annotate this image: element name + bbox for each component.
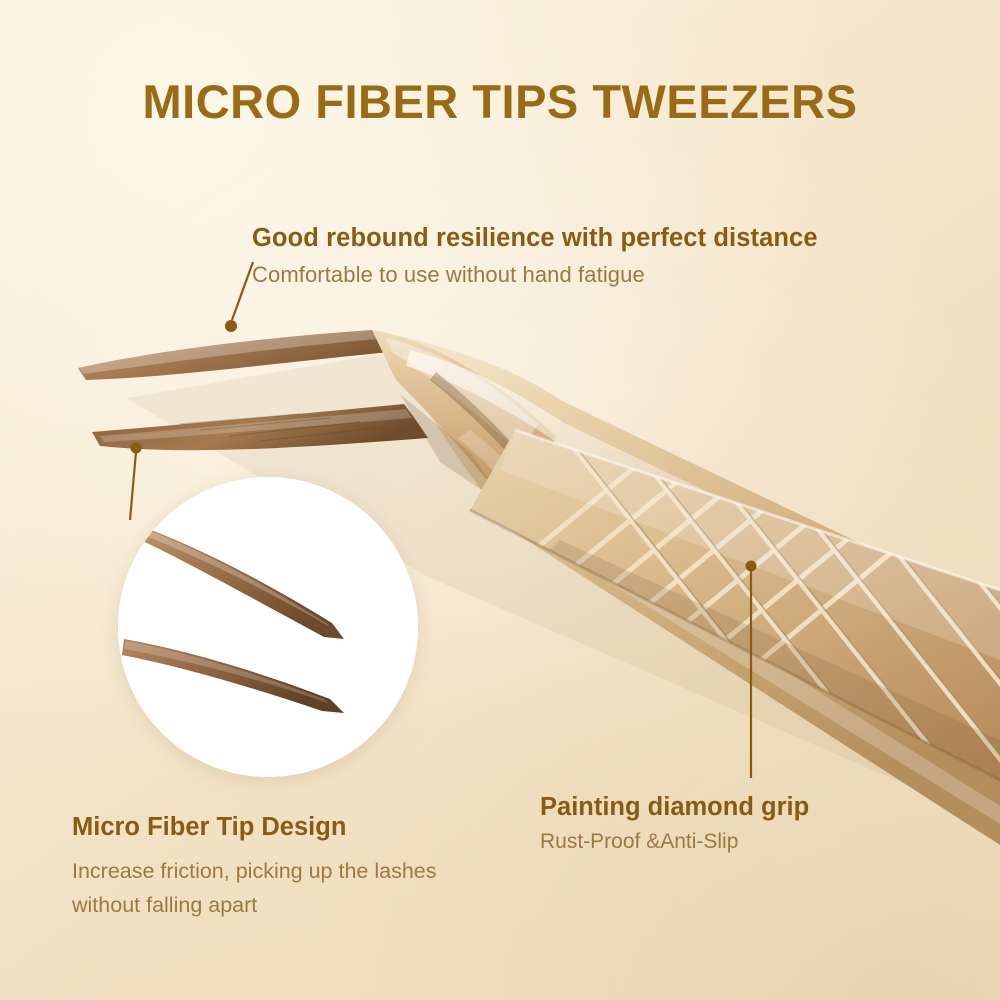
callout-rebound-sub: Comfortable to use without hand fatigue: [252, 262, 992, 288]
tweezer-tip-closeup: [118, 477, 418, 777]
leader-dot-rebound: [225, 320, 237, 332]
closeup-graphic: [118, 477, 418, 777]
leader-dot-grip: [746, 561, 757, 572]
leader-tip: [130, 452, 136, 520]
callout-rebound: Good rebound resilience with perfect dis…: [252, 224, 992, 288]
callout-grip-headline: Painting diamond grip: [540, 793, 960, 822]
callout-tip-sub: Increase friction, picking up the lashes…: [72, 854, 502, 922]
page-title: MICRO FIBER TIPS TWEEZERS: [0, 74, 1000, 129]
callout-tip-headline: Micro Fiber Tip Design: [72, 813, 502, 842]
callout-grip: Painting diamond grip Rust-Proof &Anti-S…: [540, 793, 960, 854]
leader-rebound: [232, 262, 253, 320]
leader-dot-tip: [131, 443, 142, 454]
product-infographic: MICRO FIBER TIPS TWEEZERS Good rebound r…: [0, 0, 1000, 1000]
callout-rebound-headline: Good rebound resilience with perfect dis…: [252, 224, 992, 253]
callout-tip: Micro Fiber Tip Design Increase friction…: [72, 813, 502, 922]
callout-grip-sub: Rust-Proof &Anti-Slip: [540, 830, 960, 854]
